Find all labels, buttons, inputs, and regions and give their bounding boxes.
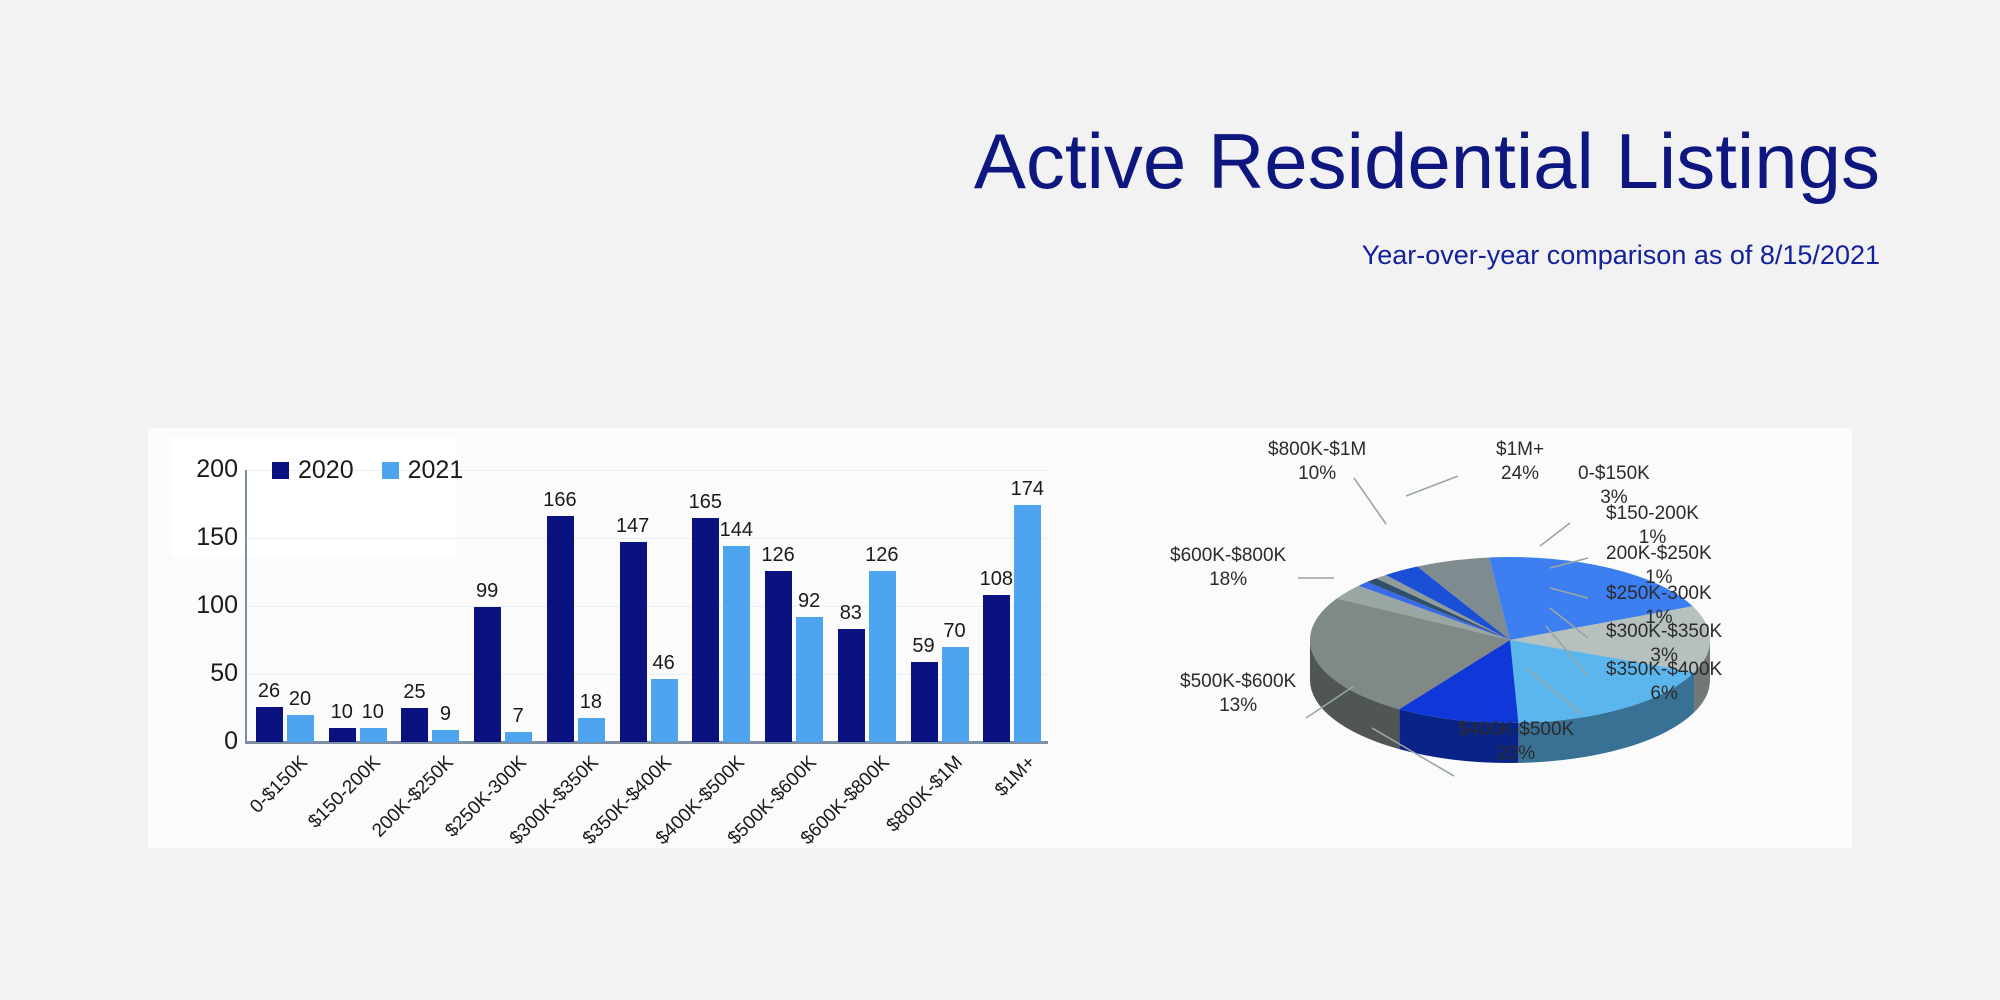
bar-2020[interactable]	[911, 662, 938, 742]
bar-value-label: 70	[925, 620, 985, 643]
bar-value-label: 174	[997, 478, 1057, 501]
pie-callout-800k-1m: $800K-$1M10%	[1268, 438, 1366, 486]
bar-2021[interactable]	[360, 728, 387, 742]
pie-callout-percent: 20%	[1458, 742, 1574, 766]
y-axis-tick-label: 0	[156, 727, 238, 756]
pie-callout-500k-600k: $500K-$600K13%	[1180, 670, 1296, 718]
pie-callout-label: $150-200K	[1606, 503, 1699, 524]
pie-chart: $800K-$1M10%$600K-$800K18%$500K-$600K13%…	[1158, 428, 1852, 848]
x-axis-label: 0-$150K	[247, 752, 313, 818]
bar-2021[interactable]	[287, 715, 314, 742]
page-subtitle: Year-over-year comparison as of 8/15/202…	[0, 240, 1880, 271]
bar-2021[interactable]	[651, 679, 678, 742]
bar-value-label: 126	[852, 544, 912, 567]
bar-value-label: 126	[748, 544, 808, 567]
bar-2021[interactable]	[432, 730, 459, 742]
bar-2020[interactable]	[983, 595, 1010, 742]
bar-group[interactable]: 5970	[908, 470, 981, 742]
bar-group[interactable]: 165144	[689, 470, 762, 742]
bar-group[interactable]: 83126	[835, 470, 908, 742]
header: Active Residential Listings Year-over-ye…	[0, 0, 2000, 300]
bar-2021[interactable]	[1014, 505, 1041, 742]
bar-2021[interactable]	[505, 732, 532, 742]
slide-root: Active Residential Listings Year-over-ye…	[0, 0, 2000, 1000]
bar-value-label: 147	[603, 515, 663, 538]
pie-callout-label: $350K-$400K	[1606, 659, 1722, 680]
y-axis-tick-label: 200	[156, 455, 238, 484]
bar-chart: 200150100500 20202021 262010102599971661…	[148, 428, 1158, 848]
pie-chart-svg	[1158, 428, 1852, 848]
bar-2020[interactable]	[620, 542, 647, 742]
pie-callout-label: $1M+	[1496, 439, 1544, 460]
pie-callout-percent: 24%	[1496, 462, 1544, 486]
x-axis-label: $1M+	[991, 752, 1041, 802]
bar-value-label: 18	[561, 691, 621, 714]
pie-callout-label: 0-$150K	[1578, 463, 1650, 484]
leader-line-0-150k	[1540, 523, 1570, 546]
bar-value-label: 166	[530, 489, 590, 512]
y-axis-tick-label: 100	[156, 591, 238, 620]
pie-callout-label: $300K-$350K	[1606, 621, 1722, 642]
bar-2020[interactable]	[692, 518, 719, 742]
y-axis-tick-label: 50	[156, 659, 238, 688]
pie-callout-label: $600K-$800K	[1170, 545, 1286, 566]
bar-value-label: 10	[343, 701, 403, 724]
pie-callout-label: $800K-$1M	[1268, 439, 1366, 460]
pie-callout-label: $400K-$500K	[1458, 719, 1574, 740]
y-axis-tick-label: 150	[156, 523, 238, 552]
page-title: Active Residential Listings	[0, 122, 1880, 200]
bar-value-label: 25	[384, 681, 444, 704]
pie-callout-label: $250K-300K	[1606, 583, 1712, 604]
bar-2021[interactable]	[796, 617, 823, 742]
pie-callout-percent: 13%	[1180, 694, 1296, 718]
pie-callout-350k-400k: $350K-$400K6%	[1606, 658, 1722, 706]
bar-series-layer: 2620101025999716618147461651441269283126…	[247, 470, 1047, 742]
bar-chart-x-axis-labels: 0-$150K$150-200K200K-$250K$250K-300K$300…	[247, 746, 1047, 856]
x-axis-label: $800K-$1M	[882, 752, 967, 837]
bar-value-label: 144	[706, 519, 766, 542]
leader-line-1m-plus	[1406, 476, 1458, 496]
pie-callout-1m-plus: $1M+24%	[1496, 438, 1544, 486]
pie-callout-600k-800k: $600K-$800K18%	[1170, 544, 1286, 592]
pie-callout-label: 200K-$250K	[1606, 543, 1712, 564]
bar-value-label: 9	[415, 703, 475, 726]
bar-2020[interactable]	[256, 707, 283, 742]
pie-callout-400k-500k: $400K-$500K20%	[1458, 718, 1574, 766]
pie-callout-percent: 6%	[1606, 682, 1722, 706]
bar-group[interactable]: 259	[398, 470, 471, 742]
bar-group[interactable]: 108174	[980, 470, 1053, 742]
pie-callout-percent: 10%	[1268, 462, 1366, 486]
bar-2021[interactable]	[942, 647, 969, 742]
bar-2021[interactable]	[723, 546, 750, 742]
bar-group[interactable]: 16618	[544, 470, 617, 742]
bar-2020[interactable]	[329, 728, 356, 742]
pie-callout-percent: 18%	[1170, 568, 1286, 592]
bar-value-label: 165	[675, 491, 735, 514]
bar-2020[interactable]	[838, 629, 865, 742]
bar-value-label: 46	[634, 652, 694, 675]
bar-2021[interactable]	[869, 571, 896, 742]
pie-callout-label: $500K-$600K	[1180, 671, 1296, 692]
bar-value-label: 7	[488, 705, 548, 728]
bar-2021[interactable]	[578, 718, 605, 742]
bar-value-label: 99	[457, 580, 517, 603]
